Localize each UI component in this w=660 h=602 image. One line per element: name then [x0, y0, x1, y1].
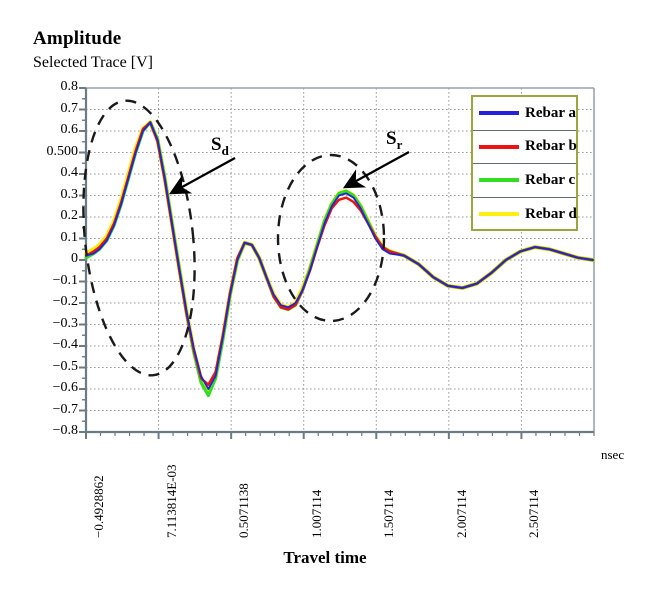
y-tick-label: −0.1 — [20, 273, 78, 289]
annotation-sd-subscript: d — [222, 143, 229, 158]
y-tick-label: 0.3 — [20, 187, 78, 203]
annotation-sr: Sr — [386, 128, 402, 153]
x-tick-label: 1.007114 — [309, 490, 325, 538]
legend-item-label: Rebar a — [525, 105, 576, 122]
y-tick-label: −0.6 — [20, 380, 78, 396]
x-tick-label: −0.4928862 — [91, 475, 107, 538]
legend-item[interactable]: Rebar a — [473, 97, 576, 131]
y-tick-label: −0.8 — [20, 423, 78, 439]
y-tick-label: 0.8 — [20, 79, 78, 95]
x-tick-label: 1.507114 — [381, 490, 397, 538]
legend-item-label: Rebar d — [525, 206, 577, 223]
y-tick-label: 0 — [20, 251, 78, 267]
y-tick-label: −0.3 — [20, 316, 78, 332]
legend-color-swatch — [479, 145, 519, 149]
legend-item-label: Rebar b — [525, 138, 577, 155]
y-tick-label: −0.2 — [20, 294, 78, 310]
x-axis-title: Travel time — [225, 548, 425, 568]
y-tick-label: 0.500 — [20, 144, 78, 160]
x-tick-label: 0.5071138 — [236, 483, 252, 538]
legend-item-label: Rebar c — [525, 172, 575, 189]
y-tick-label: −0.7 — [20, 402, 78, 418]
y-tick-label: −0.5 — [20, 359, 78, 375]
legend-item[interactable]: Rebar c — [473, 164, 576, 198]
chart-root: Amplitude Selected Trace [V] 0.80.70.60.… — [0, 0, 660, 602]
annotation-sd: Sd — [211, 134, 229, 159]
annotation-sr-label: S — [386, 128, 397, 149]
y-tick-label: −0.4 — [20, 337, 78, 353]
y-tick-label: 0.7 — [20, 101, 78, 117]
legend-color-swatch — [479, 111, 519, 115]
legend-item[interactable]: Rebar d — [473, 198, 576, 232]
annotation-sr-subscript: r — [397, 137, 403, 152]
y-tick-label: 0.4 — [20, 165, 78, 181]
legend-color-swatch — [479, 178, 519, 182]
x-tick-label: 7.113814E-03 — [164, 464, 180, 538]
y-tick-label: 0.1 — [20, 230, 78, 246]
x-axis-unit: nsec — [601, 447, 624, 463]
y-tick-label: 0.2 — [20, 208, 78, 224]
annotation-sd-label: S — [211, 134, 222, 155]
legend[interactable]: Rebar aRebar bRebar cRebar d — [471, 95, 578, 231]
legend-item[interactable]: Rebar b — [473, 131, 576, 165]
x-tick-label: 2.007114 — [454, 490, 470, 538]
legend-color-swatch — [479, 212, 519, 216]
x-tick-label: 2.507114 — [526, 490, 542, 538]
y-tick-label: 0.6 — [20, 122, 78, 138]
